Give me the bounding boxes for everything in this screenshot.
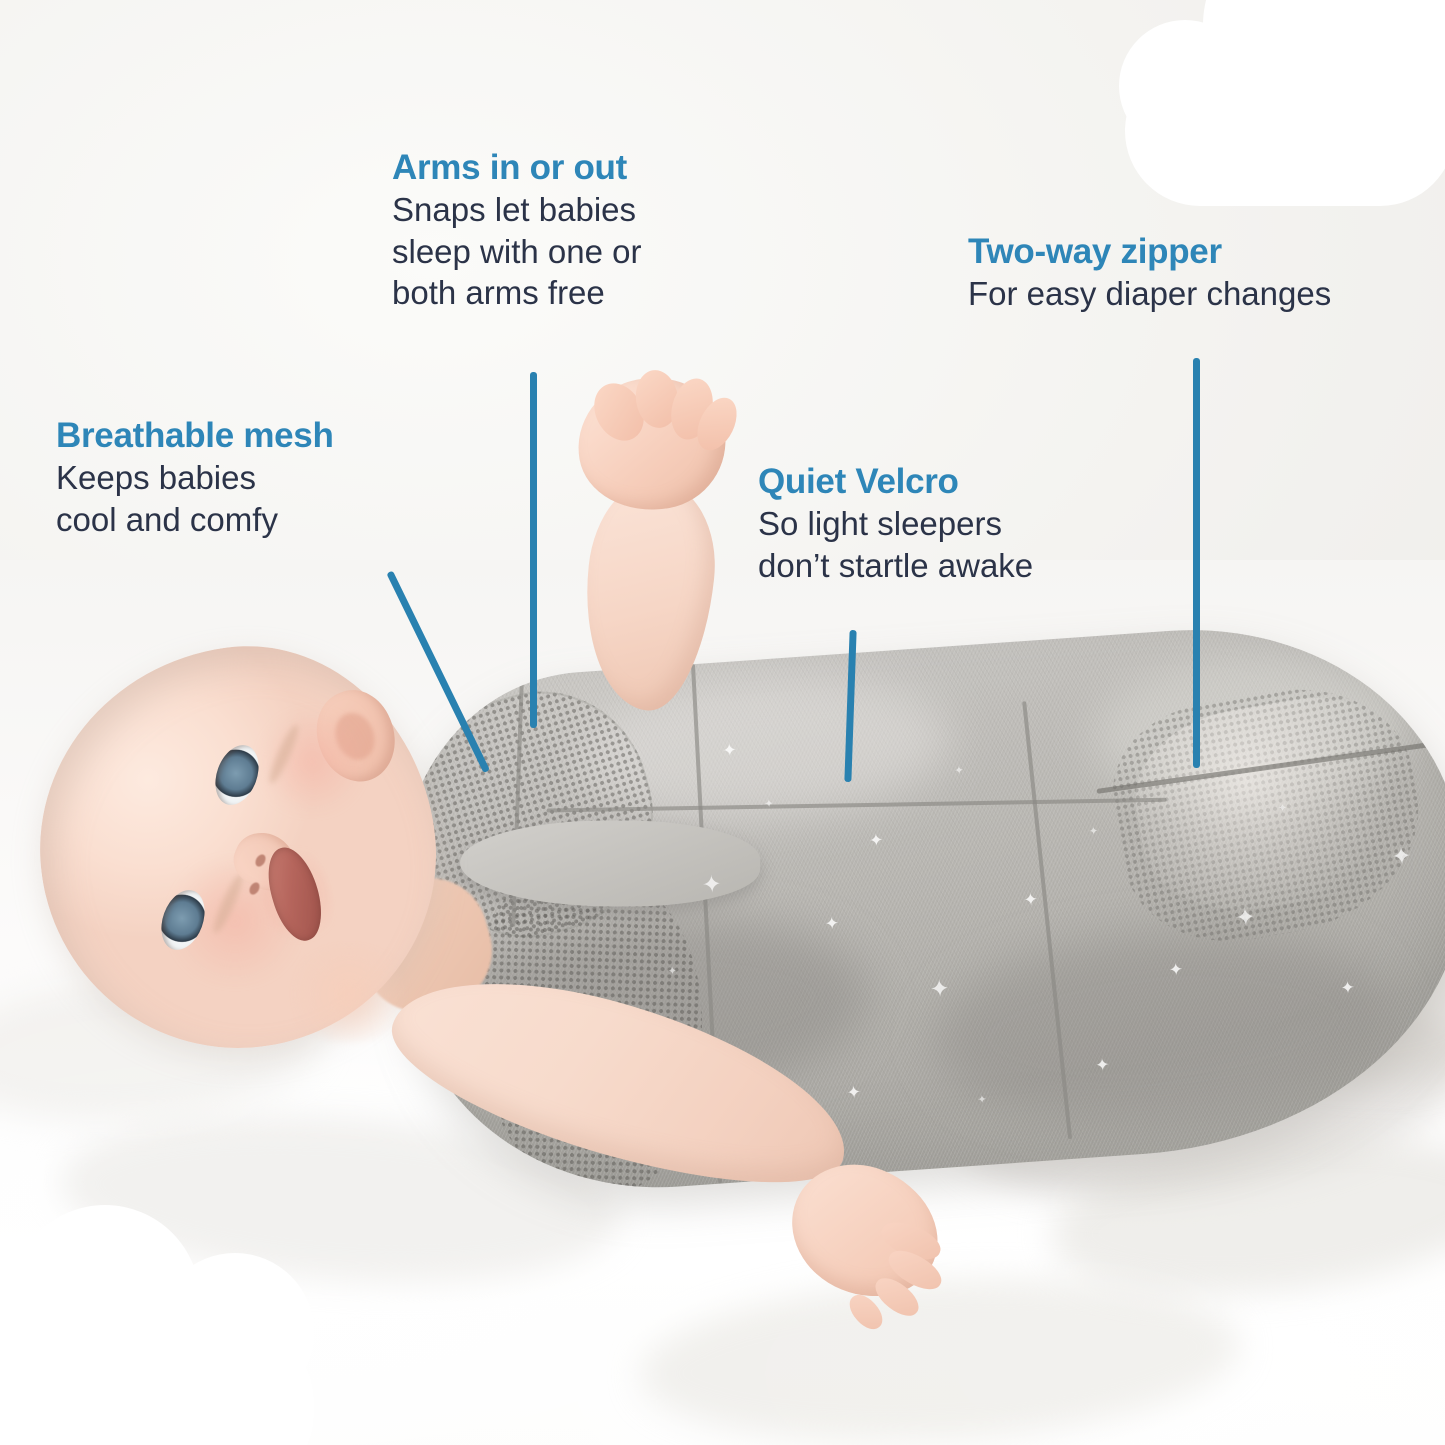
star-print: ✦ [1095, 1056, 1110, 1074]
star-print: ✦ [701, 873, 723, 898]
callout-breathable-mesh: Breathable mesh Keeps babies cool and co… [56, 416, 486, 540]
star-print: ✦ [1168, 961, 1183, 979]
star-print: ✦ [1235, 906, 1257, 931]
star-print: ✦ [977, 1095, 987, 1107]
callout-arms-in-or-out: Arms in or out Snaps let babies sleep wi… [392, 148, 732, 314]
star-print: ✦ [1278, 803, 1288, 815]
infographic-canvas: ✦ ✦ ✦ ✦ ✦ ✦ ✦ ✦ ✦ ✦ ✦ ✦ ✦ ✦ ✦ ✦ ✦ ✦ ✦ ✦ [0, 0, 1445, 1445]
star-print: ✦ [1023, 891, 1038, 909]
star-print: ✦ [1089, 826, 1099, 838]
callout-body-line-1: Keeps babies [56, 457, 486, 499]
callout-body-line-1: Snaps let babies [392, 189, 732, 231]
callout-body-line-2: cool and comfy [56, 499, 486, 541]
star-print: ✦ [954, 766, 964, 778]
star-print: ✦ [722, 741, 737, 759]
star-print: ✦ [1340, 979, 1355, 997]
star-print: ✦ [929, 977, 951, 1002]
callout-heading-breathable-mesh: Breathable mesh [56, 416, 486, 455]
callout-body-line-2: don’t startle awake [758, 545, 1138, 587]
star-print: ✦ [846, 1084, 861, 1102]
callout-quiet-velcro: Quiet Velcro So light sleepers don’t sta… [758, 462, 1138, 586]
leader-line-two-way-zipper [1193, 358, 1200, 768]
callout-heading-two-way-zipper: Two-way zipper [968, 232, 1420, 271]
baby-cheek [252, 712, 372, 812]
callout-body-line-3: both arms free [392, 272, 732, 314]
star-print: ✦ [869, 831, 884, 849]
star-print: ✦ [764, 799, 774, 811]
leader-line-arms-in-or-out [530, 372, 537, 728]
star-print: ✦ [667, 966, 677, 978]
star-print: ✦ [824, 915, 839, 933]
callout-heading-quiet-velcro: Quiet Velcro [758, 462, 1138, 501]
callout-body-line-1: So light sleepers [758, 503, 1138, 545]
callout-heading-arms-in-or-out: Arms in or out [392, 148, 732, 187]
callout-body-line-1: For easy diaper changes [968, 273, 1420, 315]
callout-two-way-zipper: Two-way zipper For easy diaper changes [968, 232, 1420, 315]
star-print: ✦ [1391, 845, 1413, 870]
callout-body-line-2: sleep with one or [392, 231, 732, 273]
